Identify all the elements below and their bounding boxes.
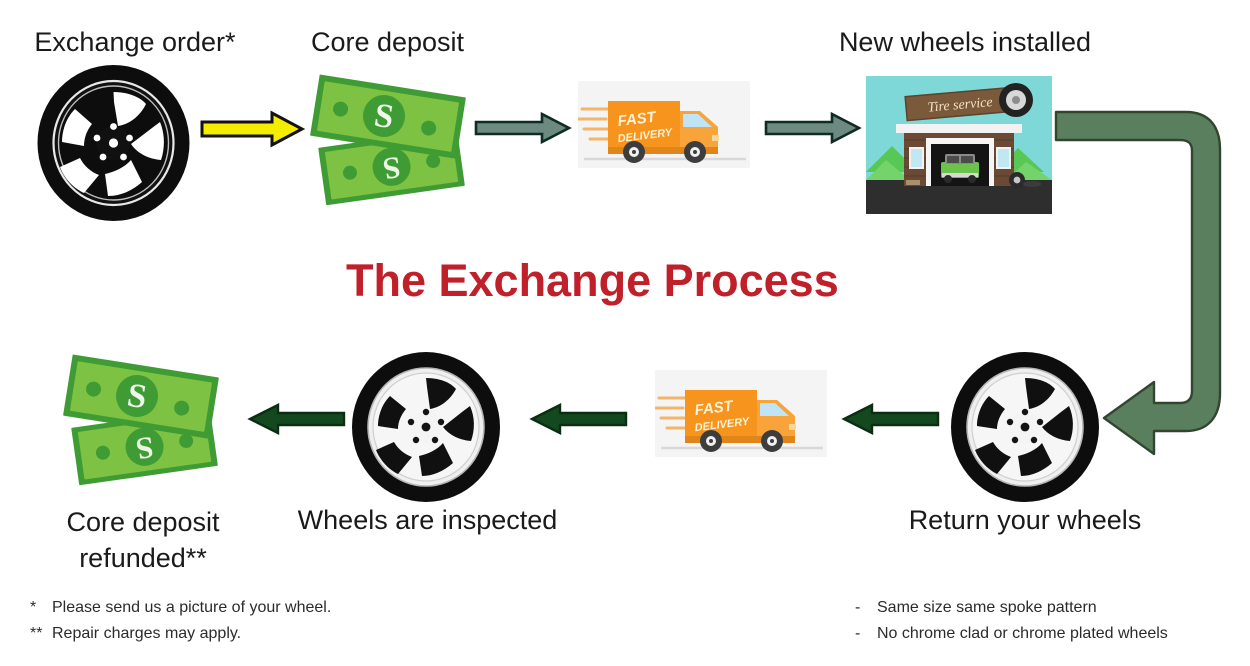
arrow-yellow bbox=[200, 110, 305, 148]
page-title: The Exchange Process bbox=[346, 255, 839, 307]
footnotes-left: *Please send us a picture of your wheel.… bbox=[30, 595, 331, 647]
footnote-text: Same size same spoke pattern bbox=[877, 599, 1097, 616]
tire-service-shop-icon: Tire service bbox=[866, 76, 1052, 214]
footnote-mark: - bbox=[855, 621, 877, 647]
money-banknotes-icon-bottom: S S bbox=[58, 348, 228, 488]
footnotes-right: -Same size same spoke pattern -No chrome… bbox=[855, 595, 1168, 647]
money-banknotes-icon-top: S S bbox=[305, 68, 475, 208]
footnote-mark: - bbox=[855, 595, 877, 621]
arrow-green-dark-1 bbox=[246, 402, 346, 436]
step-label-core-deposit-refunded: Core deposit refunded** bbox=[38, 504, 248, 576]
footnote-right-1: -Same size same spoke pattern bbox=[855, 595, 1168, 621]
footnote-left-2: **Repair charges may apply. bbox=[30, 621, 331, 647]
arrow-green-dark-2 bbox=[528, 402, 628, 436]
step-label-core-deposit: Core deposit bbox=[280, 26, 495, 59]
step-label-exchange-order: Exchange order* bbox=[10, 26, 260, 59]
footnote-left-1: *Please send us a picture of your wheel. bbox=[30, 595, 331, 621]
footnote-text: Repair charges may apply. bbox=[52, 625, 241, 642]
step-label-wheels-inspected: Wheels are inspected bbox=[295, 504, 560, 537]
refunded-line-2: refunded** bbox=[38, 540, 248, 576]
chrome-alloy-wheel-icon-return bbox=[950, 351, 1100, 503]
footnote-text: Please send us a picture of your wheel. bbox=[52, 599, 331, 616]
step-label-return-your-wheels: Return your wheels bbox=[890, 504, 1160, 537]
arrow-green-dark-3 bbox=[840, 402, 940, 436]
chrome-alloy-wheel-icon-inspected bbox=[351, 351, 501, 503]
arrow-slate-2 bbox=[764, 111, 862, 145]
step-label-new-wheels-installed: New wheels installed bbox=[805, 26, 1125, 59]
refunded-line-1: Core deposit bbox=[38, 504, 248, 540]
dark-alloy-wheel-icon bbox=[36, 64, 191, 222]
fast-delivery-truck-icon-top: FAST DELIVERY bbox=[578, 81, 750, 168]
footnote-mark: * bbox=[30, 595, 52, 621]
fast-delivery-truck-icon-bottom: FAST DELIVERY bbox=[655, 370, 827, 457]
exchange-process-diagram: Exchange order* Core deposit New wheels … bbox=[0, 0, 1250, 666]
footnote-text: No chrome clad or chrome plated wheels bbox=[877, 625, 1168, 642]
footnote-mark: ** bbox=[30, 621, 52, 647]
footnote-right-2: -No chrome clad or chrome plated wheels bbox=[855, 621, 1168, 647]
arrow-slate-1 bbox=[474, 111, 572, 145]
